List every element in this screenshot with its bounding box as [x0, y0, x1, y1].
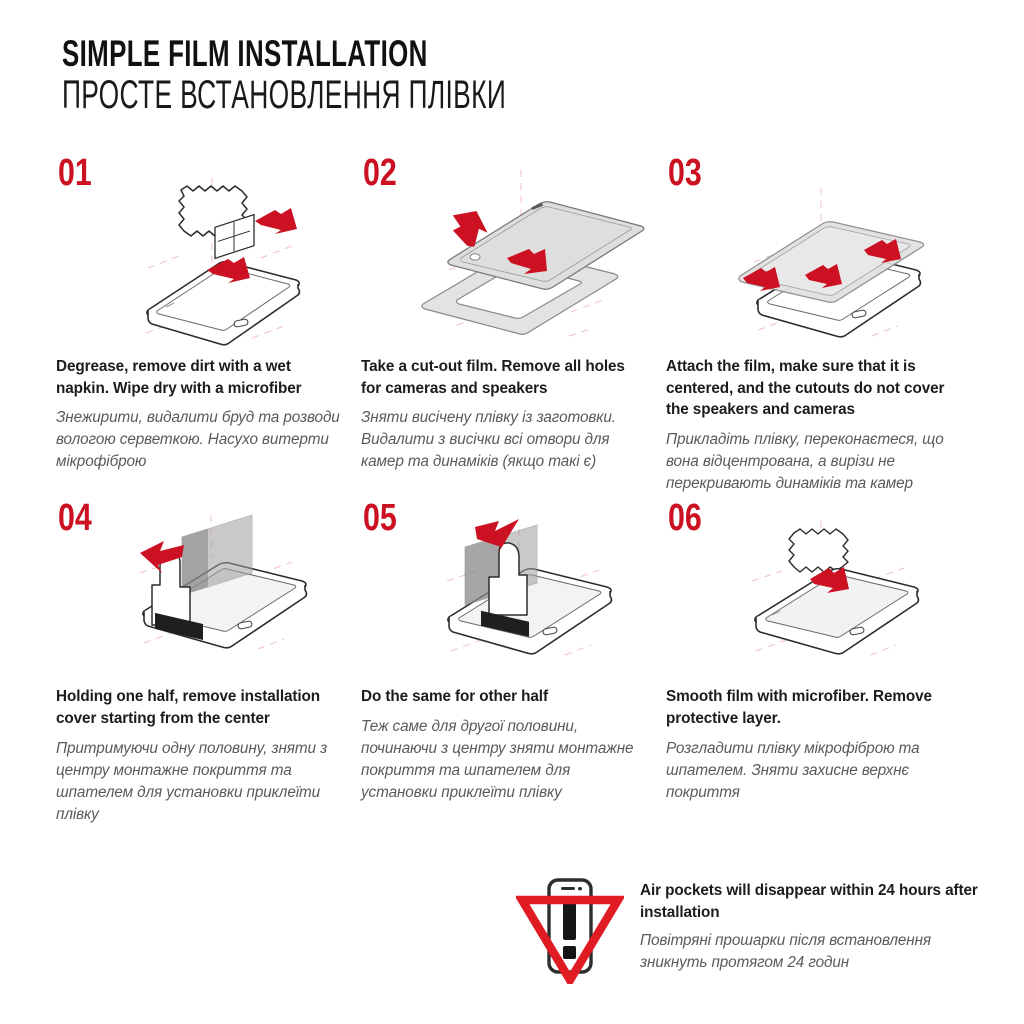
step-number-06: 06	[668, 499, 702, 537]
step-card-01: 01	[56, 150, 361, 495]
step-text-en-06: Smooth film with microfiber. Remove prot…	[666, 686, 954, 729]
footer-text-uk: Повітряні прошарки після встановлення зн…	[640, 930, 980, 974]
step-illustration-01	[56, 150, 356, 350]
step-card-05: 05	[361, 495, 666, 826]
step-text-en-03: Attach the film, make sure that it is ce…	[666, 356, 954, 421]
phone-warning-triangle-icon	[516, 872, 624, 984]
step-illustration-03	[666, 150, 966, 350]
step-illustration-05	[361, 495, 661, 680]
step-text-06: Smooth film with microfiber. Remove prot…	[666, 686, 954, 803]
page-title-uk: ПРОСТЕ ВСТАНОВЛЕННЯ ПЛІВКИ	[62, 75, 506, 116]
step-text-02: Take a cut-out film. Remove all holes fo…	[361, 356, 649, 473]
step-card-04: 04	[56, 495, 361, 826]
step-text-uk-03: Прикладіть плівку, переконаєтеся, що вон…	[666, 429, 954, 495]
step-illustration-02	[361, 150, 661, 350]
footer-text: Air pockets will disappear within 24 hou…	[640, 872, 980, 974]
step-number-05: 05	[363, 499, 397, 537]
step-text-03: Attach the film, make sure that it is ce…	[666, 356, 954, 495]
step-text-en-01: Degrease, remove dirt with a wet napkin.…	[56, 356, 344, 399]
step-card-06: 06	[666, 495, 978, 826]
step-number-04: 04	[58, 499, 92, 537]
footer-note: Air pockets will disappear within 24 hou…	[516, 872, 986, 984]
step-number-02: 02	[363, 154, 397, 192]
page-title-en: SIMPLE FILM INSTALLATION	[62, 34, 533, 73]
step-illustration-06	[666, 495, 966, 680]
step-text-en-02: Take a cut-out film. Remove all holes fo…	[361, 356, 649, 399]
step-text-uk-02: Зняти висічену плівку із заготовки. Вида…	[361, 407, 649, 473]
hand-peel-left-half-illustration	[56, 495, 356, 680]
step-text-01: Degrease, remove dirt with a wet napkin.…	[56, 356, 344, 473]
step-number-01: 01	[58, 154, 92, 192]
step-text-en-04: Holding one half, remove installation co…	[56, 686, 344, 729]
page-header: SIMPLE FILM INSTALLATION ПРОСТЕ ВСТАНОВЛ…	[62, 34, 735, 116]
step-card-02: 02	[361, 150, 666, 495]
microfiber-smooth-illustration	[666, 495, 971, 680]
footer-text-en: Air pockets will disappear within 24 hou…	[640, 880, 980, 923]
infographic-page: SIMPLE FILM INSTALLATION ПРОСТЕ ВСТАНОВЛ…	[0, 0, 1024, 1024]
step-number-03: 03	[668, 154, 702, 192]
steps-grid: 01	[56, 150, 976, 826]
step-text-uk-04: Притримуючи одну половину, зняти з центр…	[56, 738, 344, 826]
step-illustration-04	[56, 495, 356, 680]
step-text-uk-06: Розгладити плівку мікрофіброю та шпателе…	[666, 738, 954, 804]
step-text-uk-01: Знежирити, видалити бруд та розводи воло…	[56, 407, 344, 473]
step-card-03: 03	[666, 150, 978, 495]
step-text-04: Holding one half, remove installation co…	[56, 686, 344, 826]
film-aligned-on-phone-illustration	[666, 150, 971, 350]
hand-peel-right-half-illustration	[361, 495, 661, 680]
step-text-uk-05: Теж саме для другої половини, починаючи …	[361, 716, 649, 804]
cutout-film-lift-illustration	[361, 150, 661, 350]
step-text-en-05: Do the same for other half	[361, 686, 649, 708]
napkin-and-phone-illustration	[56, 150, 356, 350]
step-text-05: Do the same for other half Теж саме для …	[361, 686, 649, 804]
